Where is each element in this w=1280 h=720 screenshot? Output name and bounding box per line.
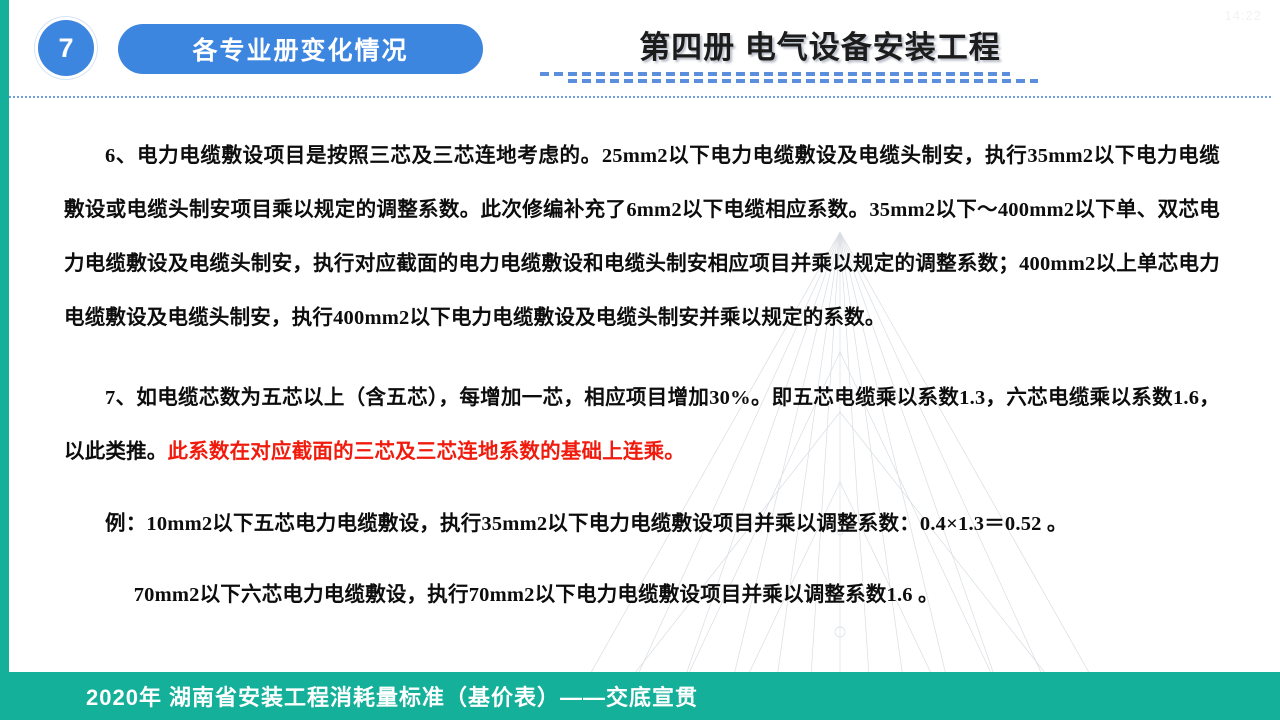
section-title-pill: 各专业册变化情况 (118, 24, 483, 74)
example-line-1: 例：10mm2以下五芯电力电缆敷设，执行35mm2以下电力电缆敷设项目并乘以调整… (0, 499, 1280, 549)
paragraph-6: 6、电力电缆敷设项目是按照三芯及三芯连地考虑的。25mm2以下电力电缆敷设及电缆… (0, 129, 1280, 345)
title-underline-decoration (540, 72, 1100, 86)
section-number-text: 7 (58, 35, 73, 62)
paragraph-7-highlight-text: 此系数在对应截面的三芯及三芯连地系数的基础上连乘。 (168, 441, 686, 463)
dashed-line-bottom (568, 79, 1038, 83)
example-line-2: 70mm2以下六芯电力电缆敷设，执行70mm2以下电力电缆敷设项目并乘以调整系数… (0, 570, 1280, 620)
clock-text: 14:22 (1224, 8, 1262, 23)
slide-body: 6、电力电缆敷设项目是按照三芯及三芯连地考虑的。25mm2以下电力电缆敷设及电缆… (0, 108, 1280, 640)
dashed-line-top (540, 72, 1010, 76)
slide-canvas: 7 各专业册变化情况 第四册 电气设备安装工程 14:22 6、电力电缆敷设项目… (0, 0, 1280, 720)
section-number-badge: 7 (38, 20, 94, 76)
header-divider (9, 96, 1271, 98)
slide-footer: 2020年 湖南省安装工程消耗量标准（基价表）——交底宣贯 (0, 672, 1280, 720)
left-accent-bar (0, 0, 9, 720)
page-title: 第四册 电气设备安装工程 (540, 22, 1100, 67)
paragraph-7: 7、如电缆芯数为五芯以上（含五芯），每增加一芯，相应项目增加30%。即五芯电缆乘… (0, 371, 1280, 479)
section-title-text: 各专业册变化情况 (192, 31, 408, 67)
deck-title-block: 第四册 电气设备安装工程 (540, 22, 1100, 86)
footer-text: 2020年 湖南省安装工程消耗量标准（基价表）——交底宣贯 (86, 680, 698, 712)
slide-header: 7 各专业册变化情况 第四册 电气设备安装工程 14:22 (0, 0, 1280, 100)
